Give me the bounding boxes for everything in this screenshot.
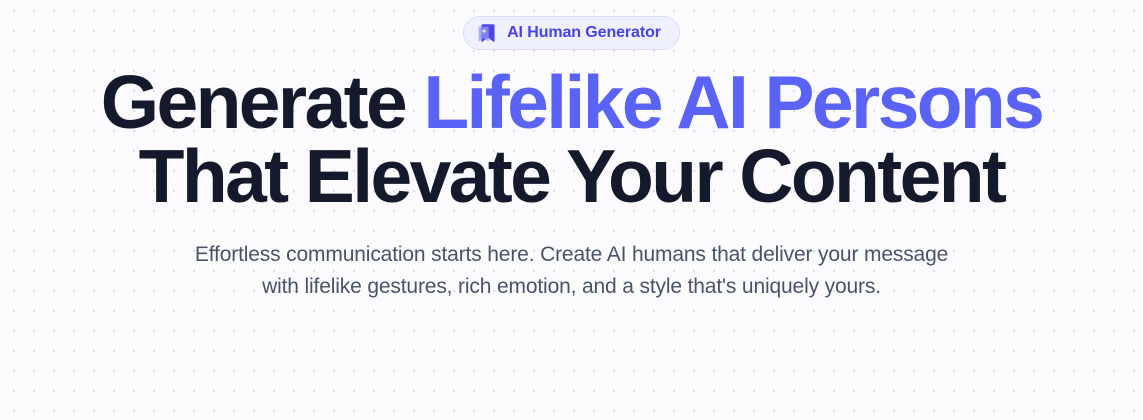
bookmark-sparkle-icon xyxy=(477,22,498,44)
badge-row: AI Human Generator xyxy=(0,16,1143,50)
headline-plain-text: Generate xyxy=(101,60,424,144)
subtitle-line-1: Effortless communication starts here. Cr… xyxy=(195,239,948,271)
headline-line-2: That Elevate Your Content xyxy=(0,140,1143,214)
headline-accent-text: Lifelike AI Persons xyxy=(423,60,1042,144)
headline-line-1: Generate Lifelike AI Persons xyxy=(0,66,1143,140)
page-title: Generate Lifelike AI Persons That Elevat… xyxy=(0,66,1143,213)
page-subtitle: Effortless communication starts here. Cr… xyxy=(195,239,948,303)
ai-human-generator-badge[interactable]: AI Human Generator xyxy=(463,16,680,50)
hero-section: AI Human Generator Generate Lifelike AI … xyxy=(0,0,1143,420)
subtitle-line-2: with lifelike gestures, rich emotion, an… xyxy=(195,271,948,303)
badge-label: AI Human Generator xyxy=(507,25,661,41)
